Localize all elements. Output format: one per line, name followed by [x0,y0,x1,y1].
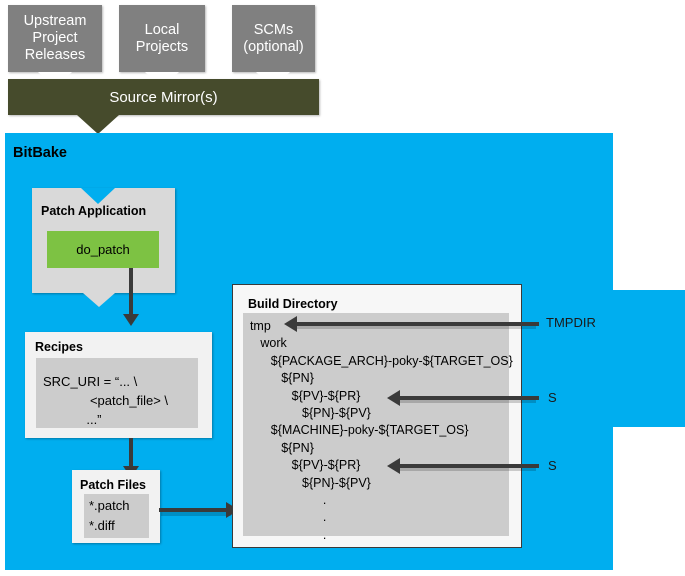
recipes-code-line-2: <patch_file> \ [43,391,168,410]
callout-s-second-shadow [399,468,536,471]
callout-label-s-first: S [548,390,557,405]
patch-files-list: *.patch*.diff [89,496,129,536]
source-mirror-label: Source Mirror(s) [109,89,217,106]
source-box-local-line-1: Local [136,22,188,39]
callout-label-tmpdir: TMPDIR [546,315,596,330]
patch-files-item-2: *.diff [89,516,129,536]
patch-application-outlet-notch [83,293,115,307]
callout-s-first-head [387,390,400,406]
patch-application-inlet-notch [81,188,115,204]
source-box-upstream: Upstream Project Releases [8,5,102,72]
callout-label-tmpdir-text: TMPDIR [546,315,596,330]
source-box-upstream-line-2: Project [24,30,87,47]
callout-tmpdir-head [284,316,297,332]
arrow-patchapp-to-recipes-head [123,314,139,326]
callout-s-first-shaft [399,396,539,400]
source-box-scms-line-1: SCMs [243,22,303,39]
build-tree-line-4: ${PN} [243,370,509,387]
patch-files-item-1: *.patch [89,496,129,516]
bitbake-region-extension [613,290,685,427]
source-box-upstream-line-3: Releases [24,47,87,64]
recipes-title-text: Recipes [35,340,83,354]
callout-tmpdir-shaft [296,322,539,326]
source-mirror-pointer [77,115,119,134]
build-directory-title-text: Build Directory [248,297,338,311]
callout-label-s-second-text: S [548,458,557,473]
recipes-title: Recipes [35,340,83,354]
source-box-scms-line-2: (optional) [243,39,303,56]
callout-label-s-second: S [548,458,557,473]
arrow-patchapp-to-recipes-shaft [129,268,133,314]
callout-label-s-first-text: S [548,390,557,405]
patch-application-title-text: Patch Application [41,204,146,218]
diagram-canvas: Upstream Project Releases Local Projects… [0,0,685,576]
do-patch-task-label: do_patch [76,242,130,257]
source-box-local-line-2: Projects [136,39,188,56]
recipes-code-line-3: ...” [43,410,168,429]
patch-application-title: Patch Application [41,204,146,218]
source-box-upstream-line-1: Upstream [24,13,87,30]
arrow-patchfiles-to-builddir-shadow [161,512,231,516]
build-tree-line-8: ${PN} [243,440,509,457]
callout-s-second-shaft [399,464,539,468]
build-tree-line-3: ${PACKAGE_ARCH}-poky-${TARGET_OS} [243,353,509,370]
source-box-local: Local Projects [119,5,205,72]
arrow-patchfiles-to-builddir-shaft [159,508,227,512]
build-tree-line-10: ${PN}-${PV} [243,475,509,492]
source-box-scms: SCMs (optional) [232,5,315,72]
build-tree-line-6: ${PN}-${PV} [243,405,509,422]
arrow-recipes-to-patchfiles-shaft [129,438,133,468]
callout-s-first-shadow [399,400,536,403]
bitbake-label-text: BitBake [13,145,67,161]
callout-s-second-head [387,458,400,474]
patch-files-title-text: Patch Files [80,478,146,492]
source-mirror-bar: Source Mirror(s) [8,79,319,115]
bitbake-label: BitBake [13,145,67,161]
build-tree-line-12: . [243,509,509,526]
build-tree-line-13: . [243,527,509,544]
bitbake-inlet-notch [81,133,115,149]
build-directory-title: Build Directory [248,297,338,311]
build-tree-line-2: work [243,335,509,352]
build-directory-tree: tmp work ${PACKAGE_ARCH}-poky-${TARGET_O… [243,313,509,536]
build-tree-line-7: ${MACHINE}-poky-${TARGET_OS} [243,422,509,439]
recipes-src-uri-code: SRC_URI = “... \ <patch_file> \ ...” [43,372,168,429]
do-patch-task-box[interactable]: do_patch [47,231,159,268]
callout-tmpdir-shadow [296,326,536,329]
build-tree-line-11: . [243,492,509,509]
recipes-code-line-1: SRC_URI = “... \ [43,372,168,391]
patch-files-title: Patch Files [80,478,146,492]
